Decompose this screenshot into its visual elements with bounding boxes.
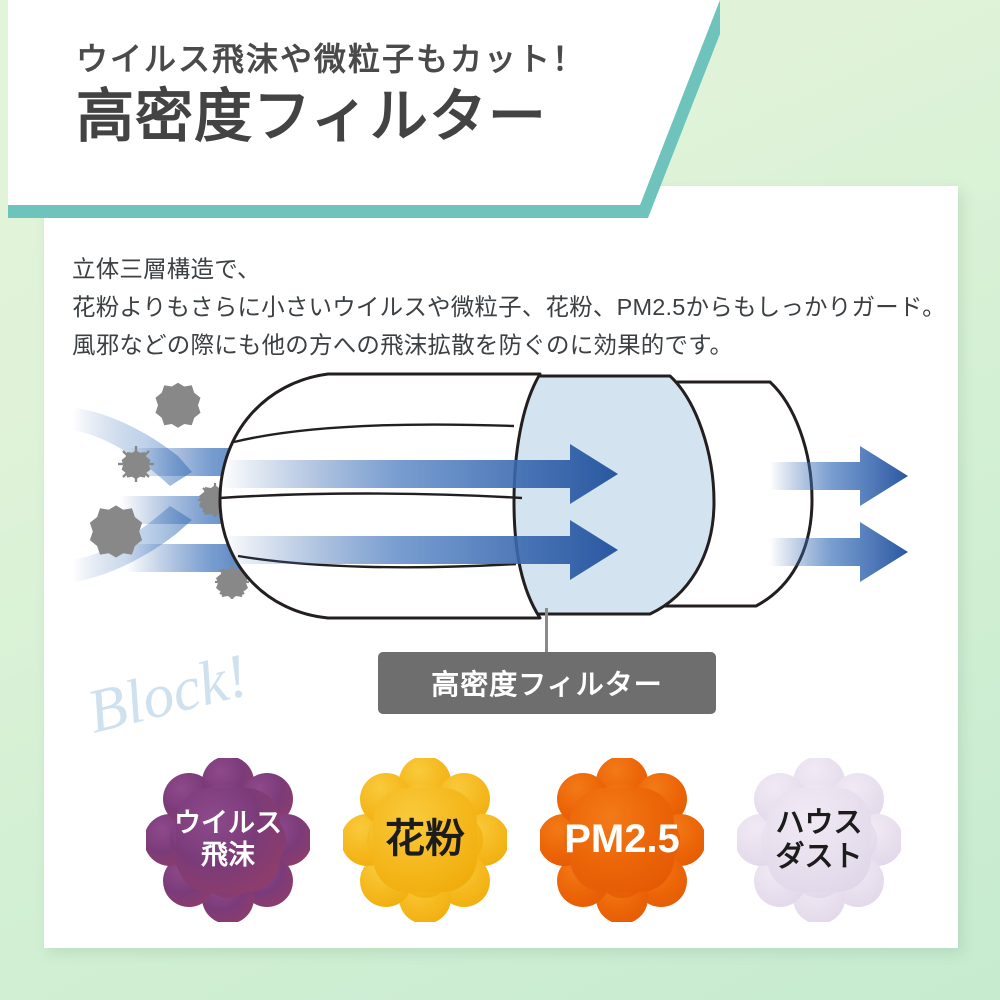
block-script-decoration: Block! [86, 655, 286, 765]
banner-headline: 高密度フィルター [76, 83, 676, 151]
protection-badge-row: ウイルス 飛沫 [146, 758, 936, 928]
header-banner: ウイルス飛沫や微粒子もカット！ 高密度フィルター [8, 0, 720, 218]
mask-cross-section-illustration [70, 360, 940, 660]
description-line-3: 風邪などの際にも他の方への飛沫拡散を防ぐのに効果的です。 [72, 326, 952, 364]
description-block: 立体三層構造で、 花粉よりもさらに小さいウイルスや微粒子、花粉、PM2.5からも… [72, 250, 952, 364]
badge-house-dust: ハウス ダスト [737, 758, 901, 922]
callout-leader-line [545, 608, 548, 656]
flower-shape-icon [343, 758, 507, 922]
infographic-page: ウイルス飛沫や微粒子もカット！ 高密度フィルター 立体三層構造で、 花粉よりもさ… [0, 0, 1000, 1000]
description-line-2: 花粉よりもさらに小さいウイルスや微粒子、花粉、PM2.5からもしっかりガード。 [72, 288, 952, 326]
particle-icon [156, 383, 201, 428]
description-line-1: 立体三層構造で、 [72, 250, 952, 288]
flower-shape-icon [737, 758, 901, 922]
badge-virus-droplet: ウイルス 飛沫 [146, 758, 310, 922]
banner-text-block: ウイルス飛沫や微粒子もカット！ 高密度フィルター [76, 42, 676, 152]
block-script-svg: Block! [86, 655, 286, 765]
mask-layer-front [220, 374, 540, 618]
flower-shape-icon [146, 758, 310, 922]
filter-callout-label: 高密度フィルター [431, 663, 662, 703]
mask-diagram-svg [70, 360, 940, 660]
filter-callout: 高密度フィルター [378, 652, 716, 714]
badge-pollen: 花粉 [343, 758, 507, 922]
badge-pm25: PM2.5 [540, 758, 704, 922]
block-script-text: Block! [86, 655, 254, 747]
banner-kicker: ウイルス飛沫や微粒子もカット！ [76, 42, 676, 77]
flower-shape-icon [540, 758, 704, 922]
